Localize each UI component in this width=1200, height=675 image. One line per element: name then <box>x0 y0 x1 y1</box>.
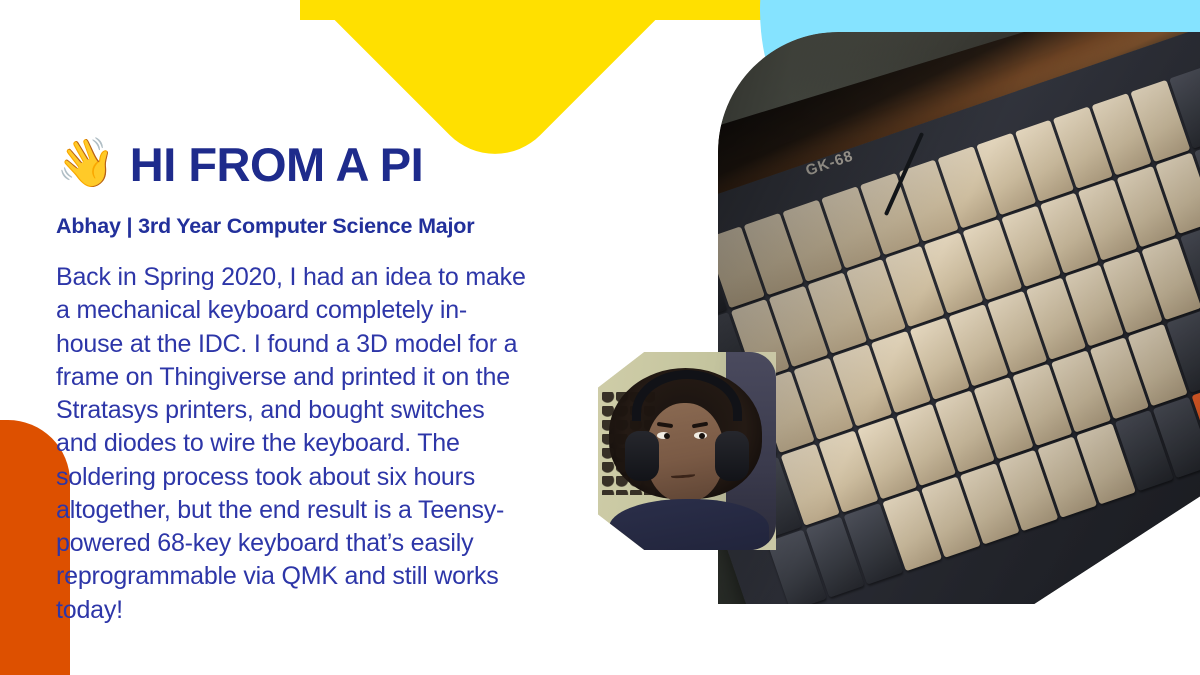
waving-hand-icon: 👋 <box>56 140 116 188</box>
headphone-earcup-left <box>625 431 659 481</box>
keyboard-photo: GK-68 <box>718 32 1200 604</box>
title-row: 👋 HI FROM A PI <box>56 140 576 188</box>
avatar-pupil-left <box>664 433 670 439</box>
slide-canvas: GK-68 👋 HI FROM A PI <box>0 0 1200 675</box>
avatar <box>598 352 776 550</box>
body-paragraph: Back in Spring 2020, I had an idea to ma… <box>56 261 526 627</box>
avatar-inner <box>598 352 776 550</box>
headphone-earcup-right <box>715 431 749 481</box>
keyboard-photo-inner: GK-68 <box>718 32 1200 604</box>
text-content: 👋 HI FROM A PI Abhay | 3rd Year Computer… <box>56 140 576 627</box>
page-title: HI FROM A PI <box>130 141 423 188</box>
avatar-shirt <box>609 499 769 550</box>
subtitle: Abhay | 3rd Year Computer Science Major <box>56 214 576 239</box>
